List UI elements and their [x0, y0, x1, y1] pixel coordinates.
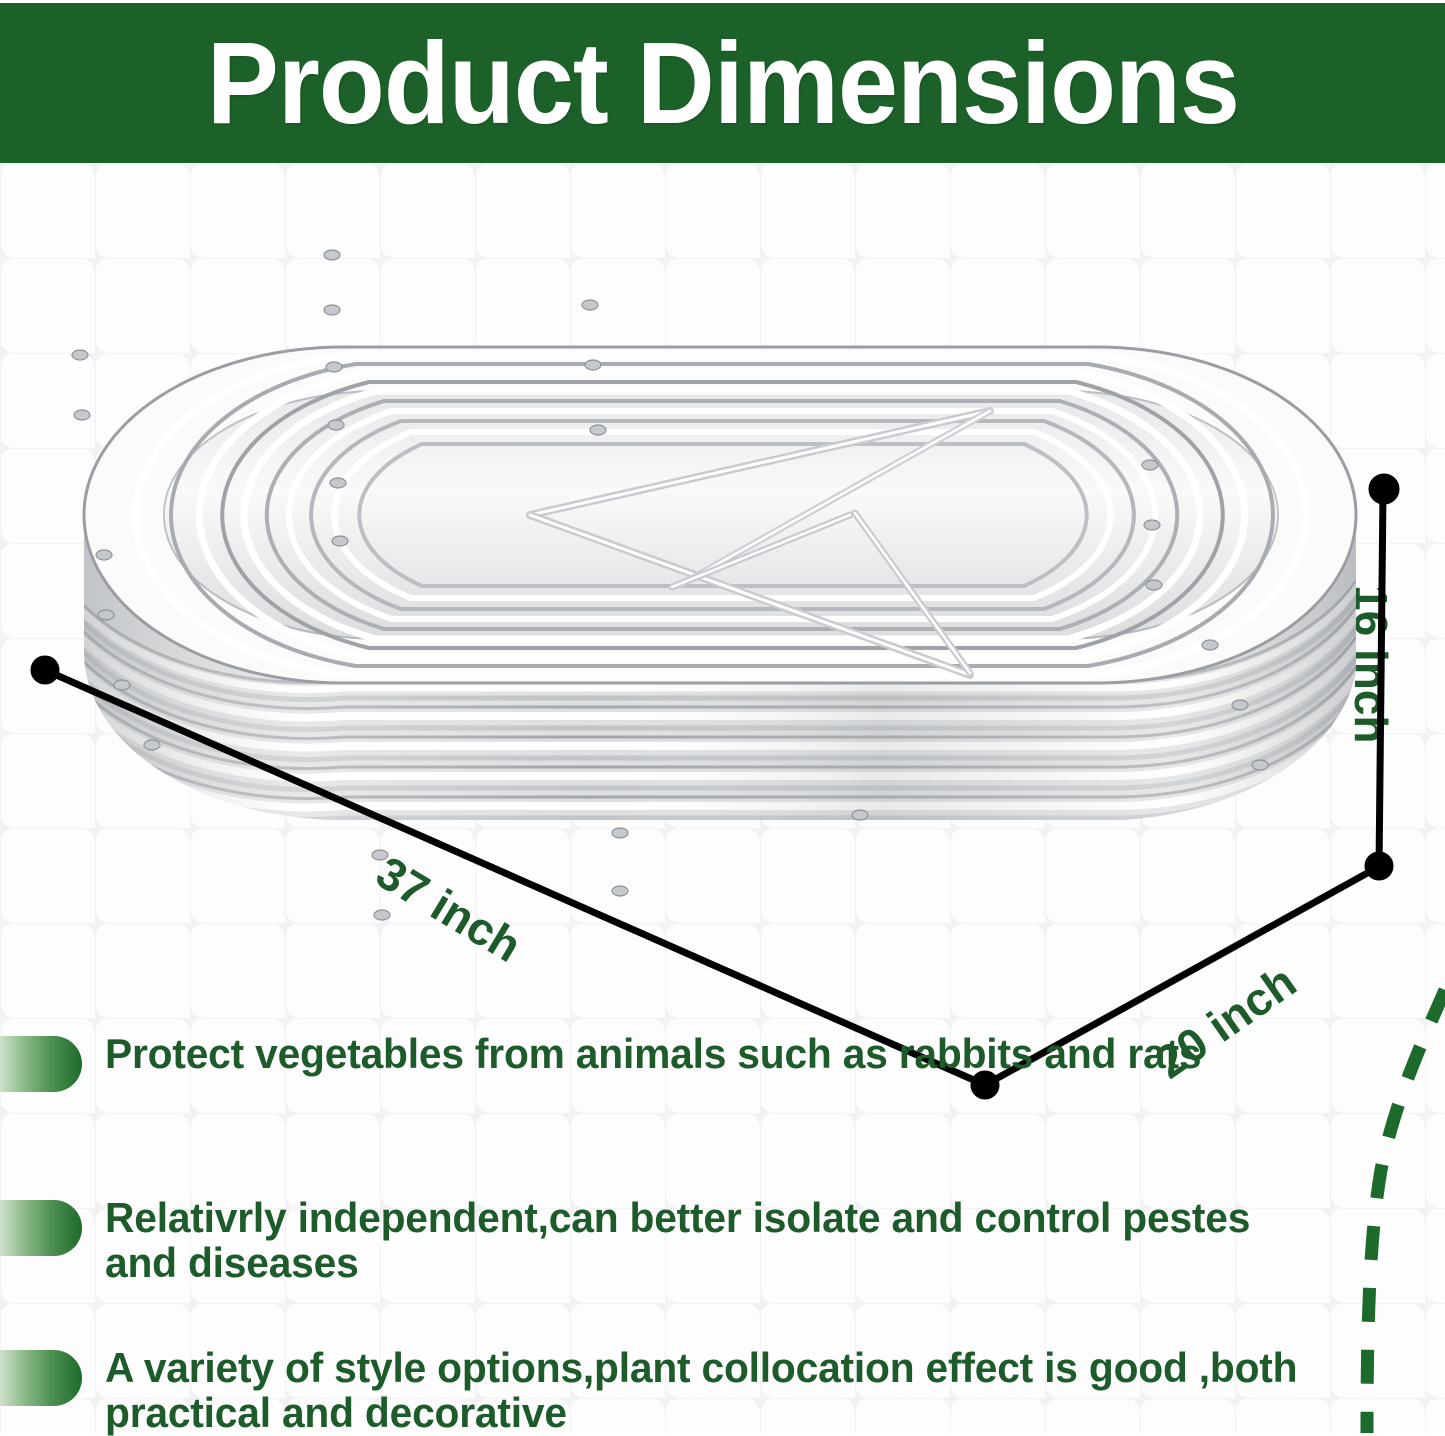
feature-text: Protect vegetables from animals such as … — [105, 1032, 1201, 1077]
list-item: Relativrly independent,can better isolat… — [0, 1196, 1360, 1286]
dimension-endpoint-length — [31, 656, 59, 684]
planter-top-rim — [84, 347, 1356, 683]
bullet-pill-icon — [0, 1036, 82, 1092]
header-banner: Product Dimensions — [0, 3, 1445, 163]
feature-text: Relativrly independent,can better isolat… — [105, 1196, 1322, 1286]
page-title: Product Dimensions — [206, 25, 1238, 141]
product-illustration-oval-raised-garden-bed — [60, 215, 1380, 1045]
bullet-pill-icon — [0, 1200, 82, 1256]
bullet-pill-icon — [0, 1350, 82, 1406]
list-item: Protect vegetables from animals such as … — [0, 1032, 1360, 1092]
feature-text: A variety of style options,plant colloca… — [105, 1346, 1322, 1436]
list-item: A variety of style options,plant colloca… — [0, 1346, 1360, 1436]
feature-list: Protect vegetables from animals such as … — [0, 1018, 1445, 1433]
